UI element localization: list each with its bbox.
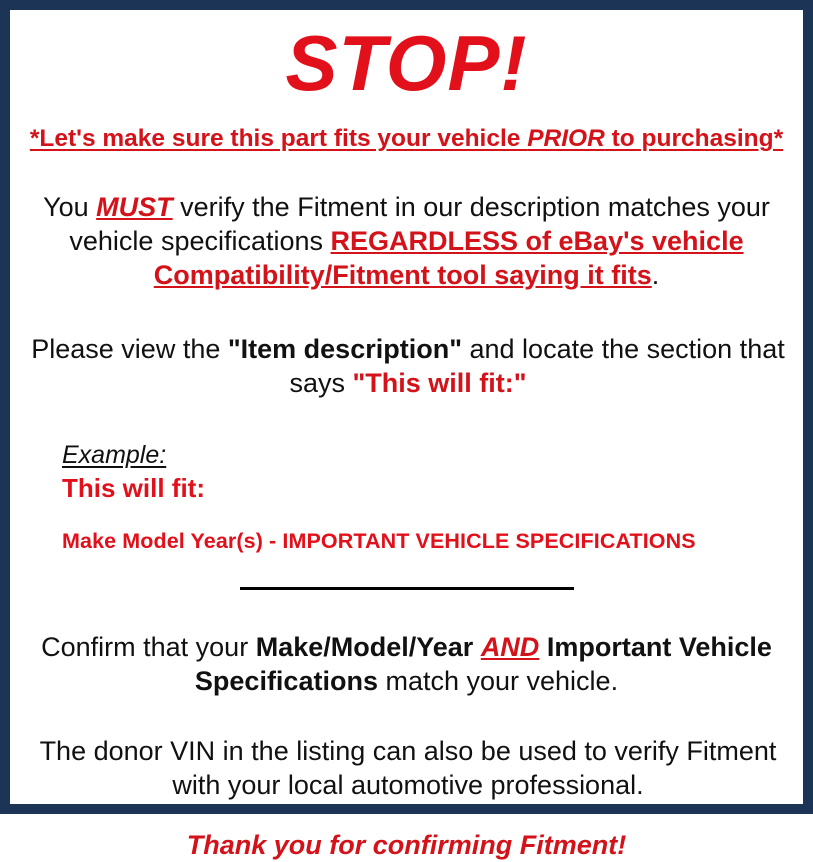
emphasis-make-model-year: Make/Model/Year [256,632,474,662]
subtitle-line: *Let's make sure this part fits your veh… [18,108,795,154]
paragraph-must-verify: You MUST verify the Fitment in our descr… [27,154,787,292]
example-label-row: Example: [62,440,795,470]
confirm-seg1: Confirm that your [41,632,256,662]
emphasis-and: AND [481,632,540,662]
emphasis-must: MUST [96,192,173,222]
confirm-seg2 [473,632,481,662]
subtitle-after: to purchasing* [605,125,783,152]
confirm-seg3 [539,632,547,662]
paragraph-item-description: Please view the "Item description" and l… [18,292,798,400]
example-block: Example: This will fit: Make Model Year(… [18,400,795,554]
must-seg3: . [652,260,660,290]
view-seg1: Please view the [31,334,228,364]
horizontal-divider [240,587,574,590]
emphasis-item-description: "Item description" [228,334,462,364]
subtitle-before: *Let's make sure this part fits your veh… [30,125,527,152]
example-spec-line: Make Model Year(s) - IMPORTANT VEHICLE S… [62,504,795,554]
confirm-seg4: match your vehicle. [378,666,618,696]
divider-wrapper [18,554,795,598]
fitment-notice-card: STOP! *Let's make sure this part fits yo… [0,0,813,814]
thanks-line: Thank you for confirming Fitment! [18,802,795,862]
paragraph-donor-vin: The donor VIN in the listing can also be… [18,698,798,802]
paragraph-confirm: Confirm that your Make/Model/Year AND Im… [27,598,787,698]
subtitle-emphasis-prior: PRIOR [527,125,605,152]
example-label: Example: [62,440,166,470]
example-fit-line: This will fit: [62,472,795,504]
stop-heading: STOP! [18,10,795,108]
notice-content: STOP! *Let's make sure this part fits yo… [10,10,803,804]
must-seg1: You [43,192,96,222]
emphasis-this-will-fit: "This will fit:" [352,368,526,398]
